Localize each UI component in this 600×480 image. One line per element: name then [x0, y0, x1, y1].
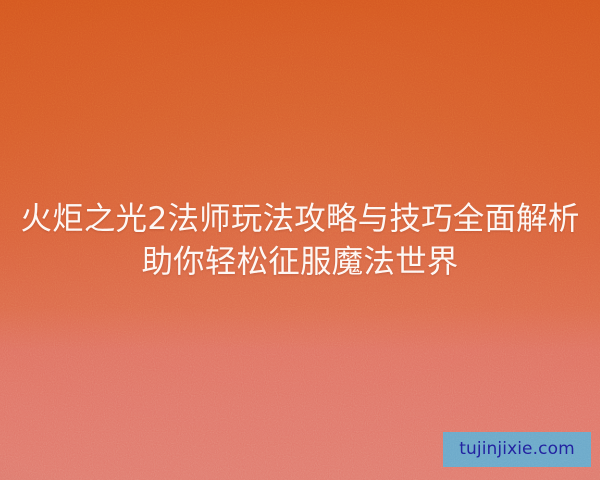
page-title-line-2: 助你轻松征服魔法世界 — [0, 241, 600, 284]
page-title-line-1: 火炬之光2法师玩法攻略与技巧全面解析 — [0, 198, 600, 241]
cover-image-canvas: 火炬之光2法师玩法攻略与技巧全面解析 助你轻松征服魔法世界 tujinjixie… — [0, 0, 600, 480]
page-title: 火炬之光2法师玩法攻略与技巧全面解析 助你轻松征服魔法世界 — [0, 198, 600, 284]
watermark-text: tujinjixie.com — [459, 441, 574, 458]
watermark-badge[interactable]: tujinjixie.com — [443, 432, 591, 467]
